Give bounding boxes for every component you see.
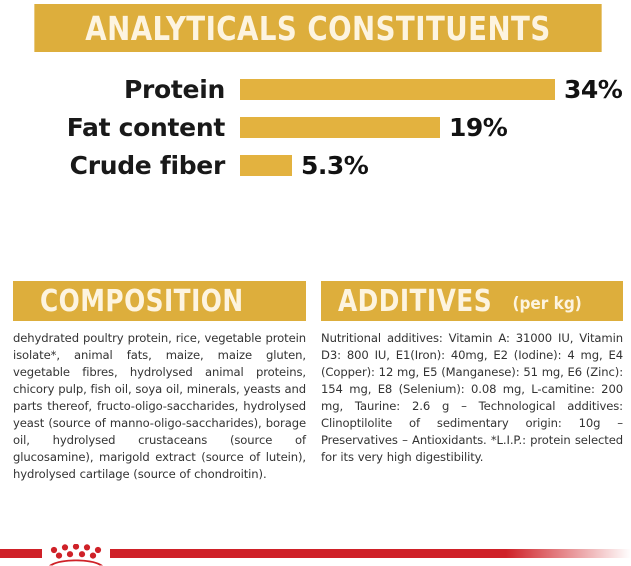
- chart-row: Protein 34%: [0, 70, 631, 108]
- royal-canin-crown-icon: [44, 544, 108, 566]
- chart-value-label: 5.3%: [301, 151, 368, 180]
- chart-row: Fat content 19%: [0, 108, 631, 146]
- analyticals-bar-chart: Protein 34% Fat content 19% Crude fiber …: [0, 70, 631, 184]
- additives-subtitle: (per kg): [512, 294, 581, 314]
- composition-title: COMPOSITION: [40, 284, 244, 319]
- chart-category-label: Fat content: [0, 115, 225, 140]
- chart-bar: [240, 155, 292, 176]
- chart-bar-group: 5.3%: [240, 151, 368, 180]
- additives-header-bar: ADDITIVES (per kg): [321, 281, 623, 321]
- chart-category-label: Protein: [0, 77, 225, 102]
- additives-title: ADDITIVES: [338, 284, 492, 319]
- composition-header-bar: COMPOSITION: [13, 281, 306, 321]
- chart-row: Crude fiber 5.3%: [0, 146, 631, 184]
- analyticals-title: ANALYTICALS CONSTITUENTS: [85, 9, 550, 48]
- rule-segment-right: [110, 549, 631, 558]
- chart-bar: [240, 79, 555, 100]
- additives-panel: ADDITIVES (per kg) Nutritional additives…: [321, 281, 623, 478]
- composition-body-text: dehydrated poultry protein, rice, vegeta…: [13, 330, 306, 483]
- chart-bar: [240, 117, 440, 138]
- rule-segment-left: [0, 549, 42, 558]
- chart-category-label: Crude fiber: [0, 153, 225, 178]
- analyticals-header-bar: ANALYTICALS CONSTITUENTS: [34, 4, 601, 52]
- footer-brand-rule: [0, 544, 631, 566]
- chart-value-label: 34%: [564, 75, 622, 104]
- composition-panel: COMPOSITION dehydrated poultry protein, …: [13, 281, 306, 495]
- chart-bar-group: 34%: [240, 75, 622, 104]
- chart-bar-group: 19%: [240, 113, 507, 142]
- chart-value-label: 19%: [449, 113, 507, 142]
- analyticals-constituents-panel: ANALYTICALS CONSTITUENTS Protein 34% Fat…: [0, 0, 631, 262]
- additives-body-text: Nutritional additives: Vitamin A: 31000 …: [321, 330, 623, 466]
